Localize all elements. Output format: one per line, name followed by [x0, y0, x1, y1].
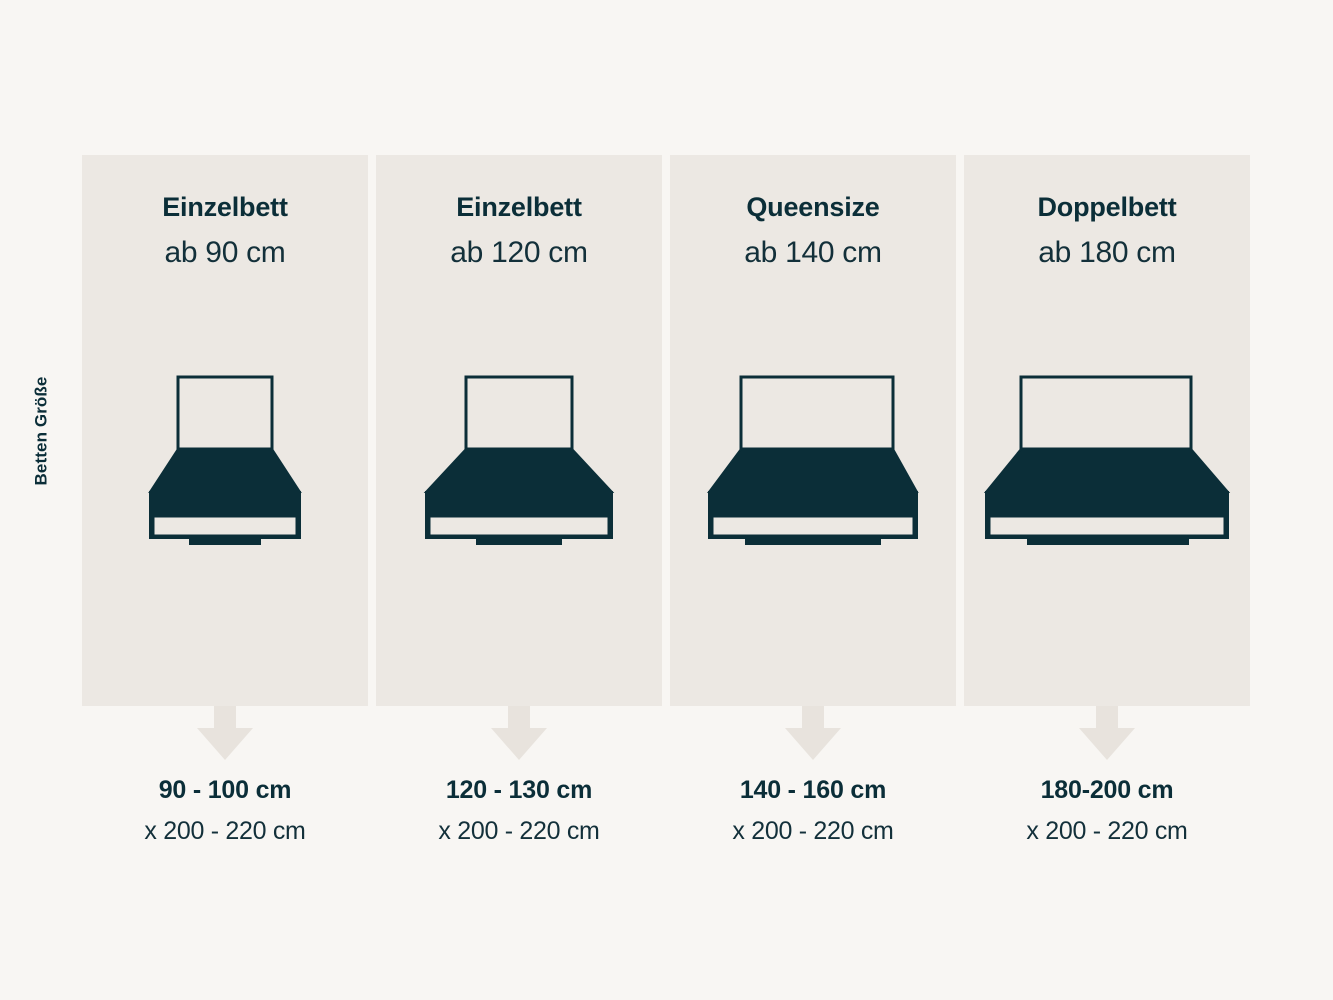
bed-illustration-container — [82, 376, 368, 706]
caption-length-range: x 200 - 220 cm — [670, 816, 956, 847]
caption-width-range: 140 - 160 cm — [670, 775, 956, 806]
caption-length-range: x 200 - 220 cm — [376, 816, 662, 847]
caption-einzelbett-120: 120 - 130 cm x 200 - 220 cm — [376, 775, 662, 848]
caption-width-range: 180-200 cm — [964, 775, 1250, 806]
column-title: Einzelbett — [162, 193, 288, 223]
bed-illustration-container — [670, 376, 956, 706]
column-subtitle: ab 180 cm — [1038, 236, 1175, 269]
bed-illustration-container — [376, 376, 662, 706]
bed-illustration-container — [964, 376, 1250, 706]
caption-einzelbett-90: 90 - 100 cm x 200 - 220 cm — [82, 775, 368, 848]
bed-size-column-einzelbett-120[interactable]: Einzelbett ab 120 cm — [376, 155, 662, 706]
bed-front-icon — [145, 375, 305, 547]
bed-size-column-doppelbett-180[interactable]: Doppelbett ab 180 cm — [964, 155, 1250, 706]
caption-width-range: 90 - 100 cm — [82, 775, 368, 806]
measurement-captions: 90 - 100 cm x 200 - 220 cm 120 - 130 cm … — [82, 775, 1250, 848]
arrow-down-icon — [196, 706, 254, 762]
bed-size-columns: Einzelbett ab 90 cm — [82, 155, 1250, 706]
arrow-down-icon — [1078, 706, 1136, 762]
column-title: Queensize — [746, 193, 879, 223]
arrow-down-icon — [784, 706, 842, 762]
caption-width-range: 120 - 130 cm — [376, 775, 662, 806]
bed-size-column-einzelbett-90[interactable]: Einzelbett ab 90 cm — [82, 155, 368, 706]
axis-label-container: Betten Größe — [0, 155, 82, 706]
axis-label-betten-groesse: Betten Größe — [31, 376, 51, 485]
column-subtitle: ab 140 cm — [744, 236, 881, 269]
column-subtitle: ab 90 cm — [165, 236, 286, 269]
bed-size-infographic: Betten Größe Einzelbett ab 90 cm — [0, 0, 1333, 1000]
arrow-down-icon — [490, 706, 548, 762]
column-title: Doppelbett — [1038, 193, 1177, 223]
column-title: Einzelbett — [456, 193, 582, 223]
caption-length-range: x 200 - 220 cm — [82, 816, 368, 847]
column-subtitle: ab 120 cm — [450, 236, 587, 269]
bed-size-column-queensize-140[interactable]: Queensize ab 140 cm — [670, 155, 956, 706]
caption-queensize-140: 140 - 160 cm x 200 - 220 cm — [670, 775, 956, 848]
bed-front-icon — [421, 375, 617, 547]
bed-front-icon — [982, 375, 1232, 547]
caption-doppelbett-180: 180-200 cm x 200 - 220 cm — [964, 775, 1250, 848]
bed-front-icon — [705, 375, 921, 547]
caption-length-range: x 200 - 220 cm — [964, 816, 1250, 847]
